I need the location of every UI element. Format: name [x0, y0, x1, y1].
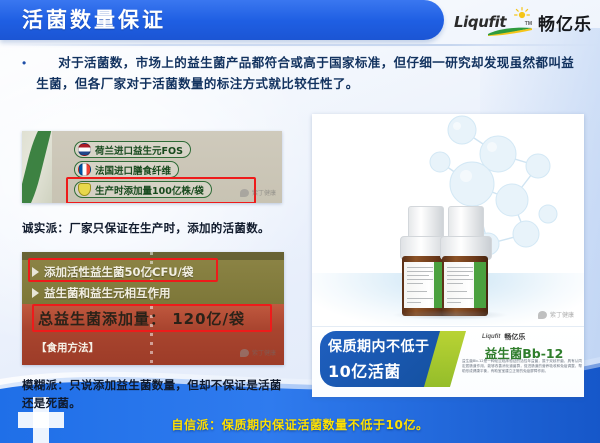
bottle-label-green-strip	[474, 262, 486, 308]
mini-brand-chinese: 畅亿乐	[504, 332, 525, 342]
label-pill-1: 荷兰进口益生元FOS	[74, 141, 191, 158]
page-title: 活菌数量保证	[22, 6, 166, 34]
netherlands-flag-icon	[78, 143, 91, 156]
mini-brand-latin: Liqufit	[482, 334, 500, 340]
caption-vague-group: 模糊派：只说添加益生菌数量，但却不保证是活菌还是死菌。	[22, 376, 290, 412]
label-pill-3-text: 生产时添加量100亿株/袋	[95, 183, 204, 197]
watermark-text: 紫丁健康	[550, 310, 574, 319]
bottle-shadow	[392, 310, 508, 320]
watermark-3: 紫丁健康	[538, 310, 574, 319]
caption-honest-group: 诚实派：厂家只保证在生产时，添加的活菌数。	[22, 219, 270, 237]
brand-chinese-name: 畅亿乐	[538, 10, 592, 35]
body-paragraph: 对于活菌数，市场上的益生菌产品都符合或高于国家标准，但仔细一研究却发现虽然都叫益…	[36, 52, 578, 94]
label-pill-1-text: 荷兰进口益生元FOS	[95, 143, 183, 157]
header-divider	[0, 44, 600, 46]
bullet-icon: •	[22, 52, 26, 94]
label-total-amount: 总益生菌添加量： 120亿/袋	[38, 308, 245, 329]
product-photo-screenshot: 紫丁健康 保质期内不低于 10亿活菌 Liqufit 畅亿乐 益生菌Bb-12 …	[312, 114, 584, 397]
watermark-text: 紫丁健康	[252, 188, 276, 197]
label-line-1-text: 添加活性益生菌50亿CFU/袋	[44, 264, 193, 280]
label-line-2: 益生菌和益生元相互作用	[32, 285, 171, 301]
bottle-cap	[408, 206, 444, 238]
callout-mini-brand: Liqufit 畅亿乐	[482, 332, 525, 342]
bottle-cap	[448, 206, 484, 238]
leaf-graphic	[22, 131, 52, 203]
swoosh-icon	[488, 27, 532, 36]
shelf-life-callout: 保质期内不低于 10亿活菌 Liqufit 畅亿乐 益生菌Bb-12 益生菌Bb…	[312, 326, 584, 397]
callout-line-2: 10亿活菌	[328, 358, 401, 382]
bottle-label	[444, 262, 486, 308]
product-bottle-right	[440, 206, 490, 316]
product-label-screenshot-2: 添加活性益生菌50亿CFU/袋 益生菌和益生元相互作用 总益生菌添加量： 120…	[22, 252, 284, 365]
brand-logo: Liqufit TM 畅亿乐	[454, 7, 592, 37]
yellow-shield-icon	[78, 183, 91, 196]
label-line-1: 添加活性益生菌50亿CFU/袋	[32, 264, 193, 280]
label-pill-3: 生产时添加量100亿株/袋	[74, 181, 212, 198]
watermark-icon	[240, 189, 249, 197]
watermark-1: 紫丁健康	[240, 188, 276, 197]
watermark-2: 紫丁健康	[240, 348, 276, 357]
sun-icon	[514, 7, 530, 23]
label-pill-2: 法国进口膳食纤维	[74, 161, 179, 178]
liqufit-logo: Liqufit TM	[454, 8, 532, 36]
label-line-2-text: 益生菌和益生元相互作用	[44, 285, 171, 301]
label-top-band	[22, 252, 284, 260]
triangle-bullet-icon	[32, 267, 39, 277]
france-flag-icon	[78, 163, 91, 176]
triangle-bullet-icon	[32, 288, 39, 298]
callout-line-1: 保质期内不低于	[328, 336, 430, 356]
callout-product-description: 益生菌Bb-12是一种经过临床验证的活性年益菌，属于双歧杆菌，具有认同定居肠道作…	[462, 359, 582, 375]
label-pill-2-text: 法国进口膳食纤维	[95, 163, 171, 177]
watermark-icon	[240, 349, 249, 357]
label-usage-heading: 【食用方法】	[36, 340, 99, 355]
bottom-note: 自信派：保质期内保证活菌数量不低于10亿。	[0, 416, 600, 433]
watermark-icon	[538, 311, 547, 319]
product-label-screenshot-1: 荷兰进口益生元FOS 法国进口膳食纤维 生产时添加量100亿株/袋 紫丁健康	[22, 131, 282, 203]
body-bullet-row: • 对于活菌数，市场上的益生菌产品都符合或高于国家标准，但仔细一研究却发现虽然都…	[22, 52, 578, 94]
slide-canvas: 活菌数量保证 Liqufit TM 畅亿乐 •	[0, 0, 600, 443]
watermark-text: 紫丁健康	[252, 348, 276, 357]
